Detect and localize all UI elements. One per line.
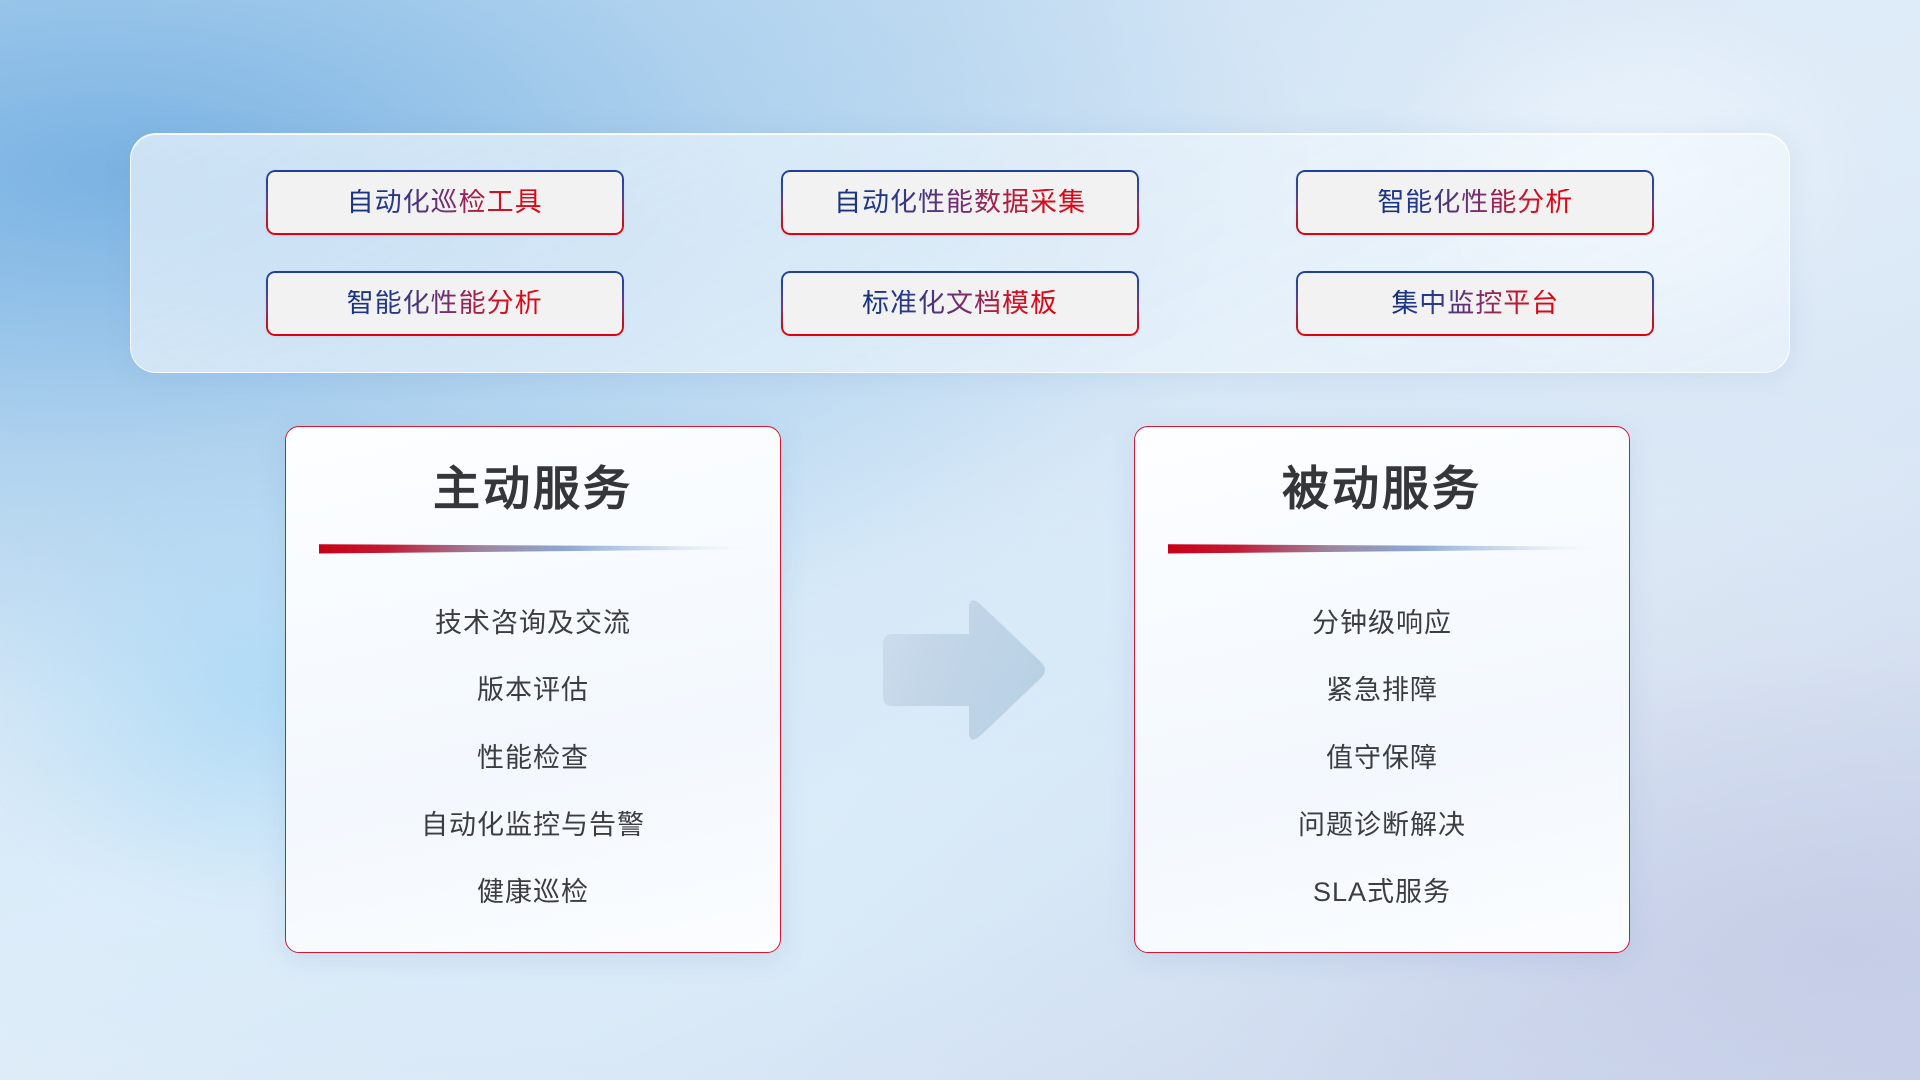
capability-tags-panel: 自动化巡检工具 自动化性能数据采集 智能化性能分析 智能化性能分析 标准化文档模… [130, 133, 1790, 373]
arrow-right-icon [873, 592, 1048, 752]
service-list-item: 技术咨询及交流 [316, 590, 750, 657]
gradient-divider [319, 542, 747, 558]
capability-pill[interactable]: 自动化巡检工具 [266, 170, 624, 235]
service-list-item: 版本评估 [316, 657, 750, 724]
service-card-reactive[interactable]: 被动服务 分钟级响应 紧急排障 值守保障 [1134, 426, 1630, 953]
gradient-divider [1168, 542, 1596, 558]
capability-pill-label: 智能化性能分析 [347, 290, 543, 317]
card-title: 主动服务 [433, 465, 633, 512]
service-list-item: 问题诊断解决 [1165, 792, 1599, 859]
service-item-list: 分钟级响应 紧急排障 值守保障 问题诊断解决 SLA式服务 [1165, 590, 1599, 926]
capability-pill-label: 自动化性能数据采集 [834, 189, 1086, 216]
capability-pill[interactable]: 自动化性能数据采集 [781, 170, 1139, 235]
service-list-item: 分钟级响应 [1165, 590, 1599, 657]
capability-pill-label: 自动化巡检工具 [347, 189, 543, 216]
service-list-item: 性能检查 [316, 724, 750, 791]
service-list-item: 紧急排障 [1165, 657, 1599, 724]
capability-pill[interactable]: 集中监控平台 [1296, 271, 1654, 336]
capability-pill-label: 集中监控平台 [1391, 290, 1559, 317]
service-list-item: 值守保障 [1165, 724, 1599, 791]
card-title: 被动服务 [1282, 465, 1482, 512]
slide-canvas: 自动化巡检工具 自动化性能数据采集 智能化性能分析 智能化性能分析 标准化文档模… [0, 0, 1920, 1080]
service-list-item: 健康巡检 [316, 859, 750, 926]
capability-pill[interactable]: 智能化性能分析 [266, 271, 624, 336]
service-item-list: 技术咨询及交流 版本评估 性能检查 自动化监控与告警 健康巡检 [316, 590, 750, 926]
capability-pill[interactable]: 标准化文档模板 [781, 271, 1139, 336]
service-list-item: SLA式服务 [1165, 859, 1599, 926]
service-card-proactive[interactable]: 主动服务 技术咨询及交流 版本评估 性能检查 [285, 426, 781, 953]
capability-pill-label: 智能化性能分析 [1377, 189, 1573, 216]
capability-pill[interactable]: 智能化性能分析 [1296, 170, 1654, 235]
capability-pill-label: 标准化文档模板 [862, 290, 1058, 317]
service-list-item: 自动化监控与告警 [316, 792, 750, 859]
